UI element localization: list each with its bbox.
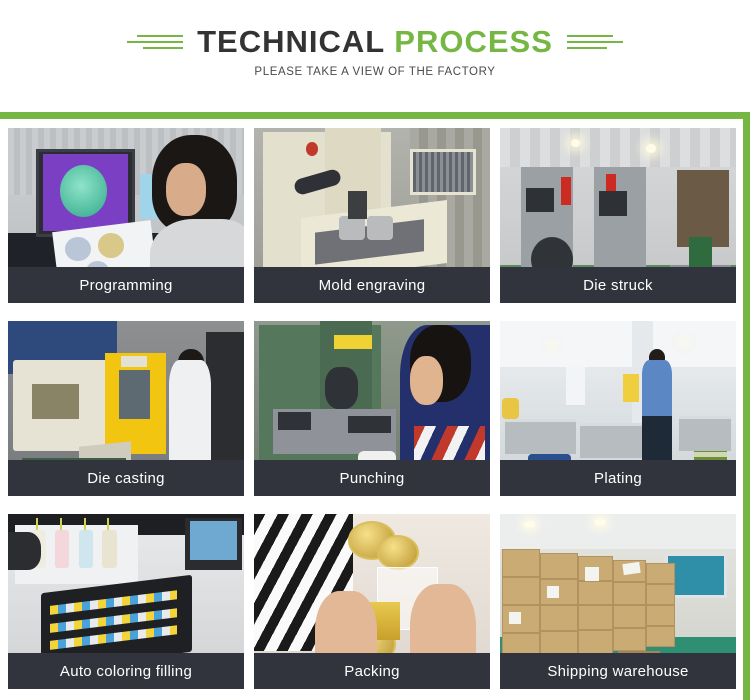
card-caption: Packing [254,653,490,689]
process-card-punching[interactable]: Punching [254,321,490,496]
card-caption: Plating [500,460,736,496]
header: TECHNICAL PROCESS PLEASE TAKE A VIEW OF … [0,0,750,117]
process-card-die-casting[interactable]: Die casting [8,321,244,496]
page-title: TECHNICAL PROCESS [197,26,553,57]
right-decoration-lines [567,35,623,49]
process-card-plating[interactable]: Plating [500,321,736,496]
card-caption: Die struck [500,267,736,303]
title-row: TECHNICAL PROCESS [0,0,750,57]
technical-process-banner: TECHNICAL PROCESS PLEASE TAKE A VIEW OF … [0,0,750,700]
process-card-packing[interactable]: Packing [254,514,490,689]
left-decoration-lines [127,35,183,49]
card-caption: Mold engraving [254,267,490,303]
process-card-die-struck[interactable]: Die struck [500,128,736,303]
card-caption: Shipping warehouse [500,653,736,689]
process-grid: Programming Mold engraving [0,117,750,689]
card-caption: Auto coloring filling [8,653,244,689]
title-word-technical: TECHNICAL [197,24,385,59]
process-card-shipping-warehouse[interactable]: Shipping warehouse [500,514,736,689]
process-card-mold-engraving[interactable]: Mold engraving [254,128,490,303]
page-subtitle: PLEASE TAKE A VIEW OF THE FACTORY [0,66,750,78]
card-caption: Punching [254,460,490,496]
card-caption: Die casting [8,460,244,496]
title-word-process: PROCESS [394,24,553,59]
card-caption: Programming [8,267,244,303]
process-card-programming[interactable]: Programming [8,128,244,303]
process-card-auto-coloring-filling[interactable]: Auto coloring filling [8,514,244,689]
